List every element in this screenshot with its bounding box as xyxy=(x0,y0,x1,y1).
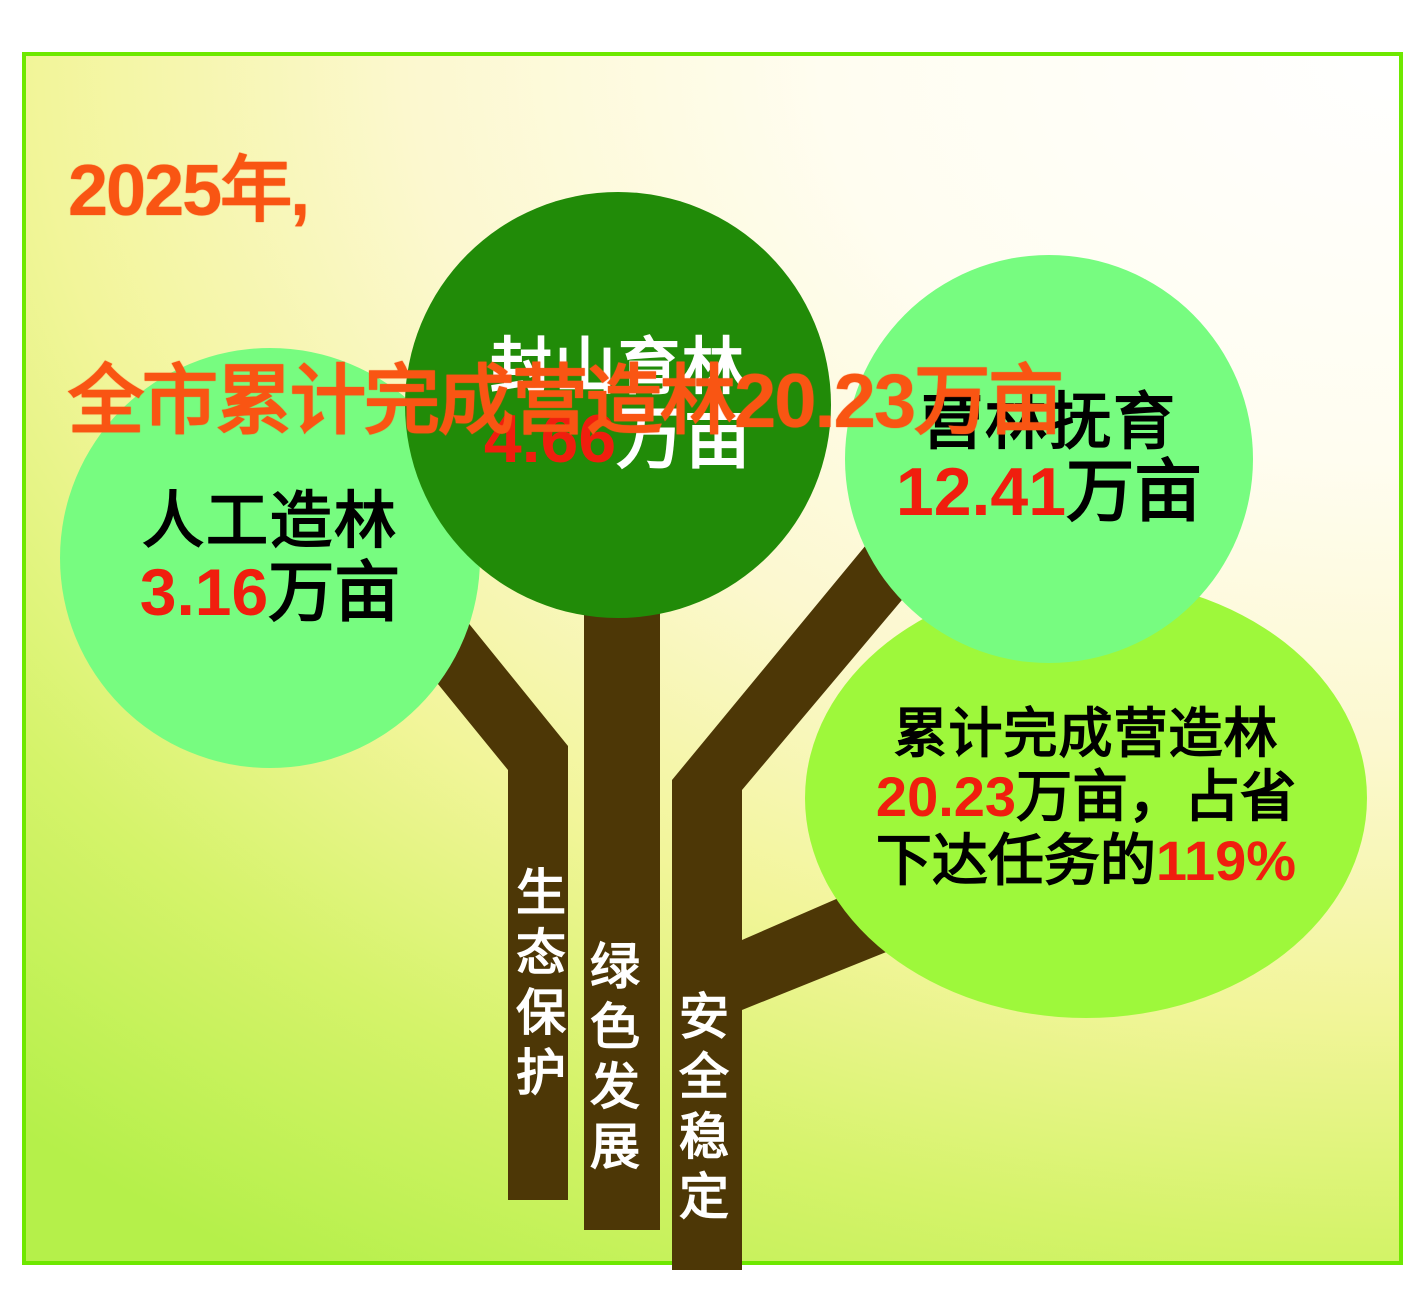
title-line-1: 2025年, xyxy=(68,158,1062,224)
trunk-label-safety-stability: 安全稳定 xyxy=(675,990,725,1230)
crown-total-percent: 119% xyxy=(1156,829,1296,892)
crown-total-value-row: 20.23万亩，占省 xyxy=(876,768,1296,825)
crown-total-rate-prefix: 下达任务的 xyxy=(876,829,1156,892)
crown-total-value: 20.23 xyxy=(876,765,1016,828)
crown-total-label: 累计完成营造林 xyxy=(894,707,1279,762)
crown-total-rate-row: 下达任务的119% xyxy=(876,832,1296,889)
page-title: 2025年, 全市累计完成营造林20.23万亩 xyxy=(68,14,1062,581)
crown-right-unit: 万亩 xyxy=(1066,454,1202,530)
trunk-label-green-development: 绿色发展 xyxy=(586,940,636,1180)
infographic-canvas: 2025年, 全市累计完成营造林20.23万亩 人工造林 3.16万亩 封山育林… xyxy=(0,0,1417,1292)
trunk-label-ecological-protection: 生态保护 xyxy=(512,866,562,1106)
crown-total-unit: 万亩，占省 xyxy=(1016,765,1296,828)
title-line-2: 全市累计完成营造林20.23万亩 xyxy=(68,367,1062,437)
